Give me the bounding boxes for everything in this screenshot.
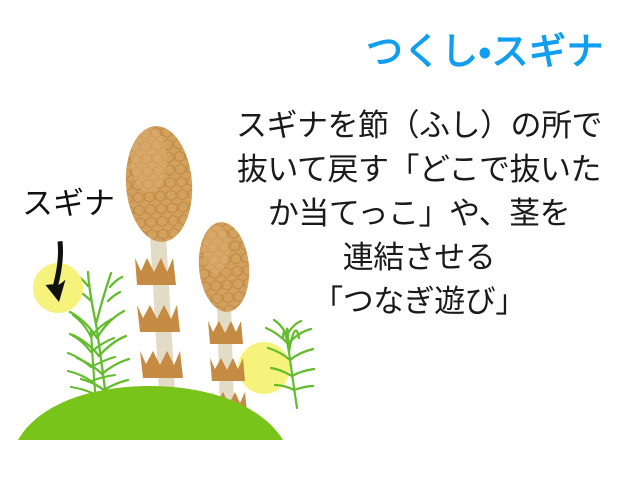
description-line-4: 連結させる (206, 236, 632, 280)
description-paragraph: スギナを節（ふし）の所で 抜いて戻す「どこで抜いた か当てっこ」や、茎を 連結さ… (206, 104, 632, 324)
hill (18, 386, 283, 440)
illustration-slide: つくし・スギナ スギナを節（ふし）の所で 抜いて戻す「どこで抜いた か当てっこ」… (0, 0, 640, 480)
description-line-2: 抜いて戻す「どこで抜いた (206, 148, 632, 192)
page-title: つくし・スギナ (340, 32, 630, 73)
tsukushi-tall (122, 124, 196, 408)
description-line-5: 「つなぎ遊び」 (206, 280, 632, 324)
description-line-3: か当てっこ」や、茎を (206, 192, 632, 236)
sugina-callout-label: スギナ (22, 185, 115, 223)
description-line-1: スギナを節（ふし）の所で (206, 104, 632, 148)
